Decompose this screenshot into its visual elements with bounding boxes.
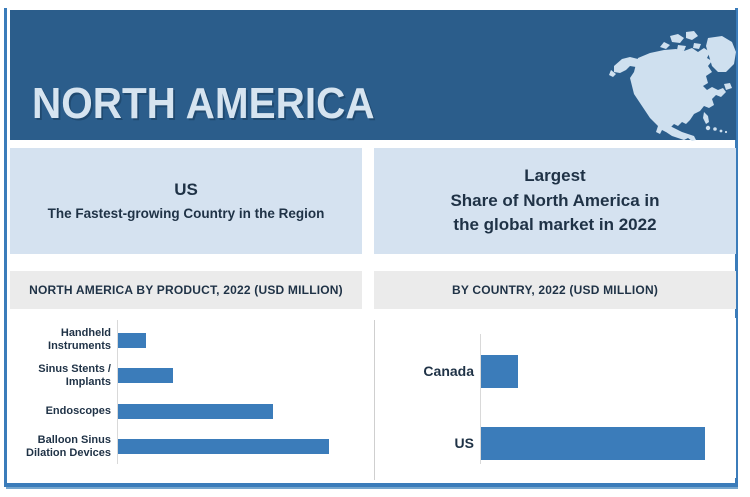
header-banner: NORTH AMERICA <box>10 10 736 140</box>
stat-card-right-line1: Largest <box>524 164 585 189</box>
north-america-map-icon <box>608 28 748 146</box>
bar-label-handheld-instruments: HandheldInstruments <box>10 327 111 353</box>
chart-panel-by-country: CanadaUS <box>378 318 736 478</box>
north-america-infographic: NORTH AMERICA <box>0 0 750 497</box>
bar-label-endoscopes: Endoscopes <box>10 405 111 418</box>
bar-balloon-sinus-dilation-devices <box>118 439 329 454</box>
frame-left-border <box>4 8 7 483</box>
stat-card-fastest-growing: US The Fastest-growing Country in the Re… <box>10 148 362 254</box>
chart-title-by-product: NORTH AMERICA BY PRODUCT, 2022 (USD MILL… <box>10 271 362 309</box>
bar-label-us: US <box>378 435 474 451</box>
bar-endoscopes <box>118 404 273 419</box>
stat-card-left-headline: US <box>174 179 198 202</box>
stat-card-right-line3: the global market in 2022 <box>453 213 656 238</box>
bar-canada <box>481 355 518 388</box>
frame-bottom-border-accent <box>6 487 738 489</box>
stat-card-largest-share: Largest Share of North America in the gl… <box>374 148 736 254</box>
page-title: NORTH AMERICA <box>32 82 375 126</box>
bar-handheld-instruments <box>118 333 146 348</box>
chart-panel-by-product: HandheldInstrumentsSinus Stents /Implant… <box>10 318 362 478</box>
horizontal-bar-chart-country: CanadaUS <box>378 318 736 478</box>
bar-label-canada: Canada <box>378 363 474 379</box>
horizontal-bar-chart-product: HandheldInstrumentsSinus Stents /Implant… <box>10 318 362 478</box>
panel-divider <box>374 320 375 480</box>
bar-label-balloon-sinus-dilation-devices: Balloon SinusDilation Devices <box>10 434 111 460</box>
bar-label-sinus-stents-implants: Sinus Stents /Implants <box>10 363 111 389</box>
bar-sinus-stents-implants <box>118 368 173 383</box>
bar-us <box>481 427 705 460</box>
chart-title-by-country: BY COUNTRY, 2022 (USD MILLION) <box>374 271 736 309</box>
stat-card-left-subtext: The Fastest-growing Country in the Regio… <box>48 205 325 223</box>
stat-card-right-line2: Share of North America in <box>450 189 659 214</box>
